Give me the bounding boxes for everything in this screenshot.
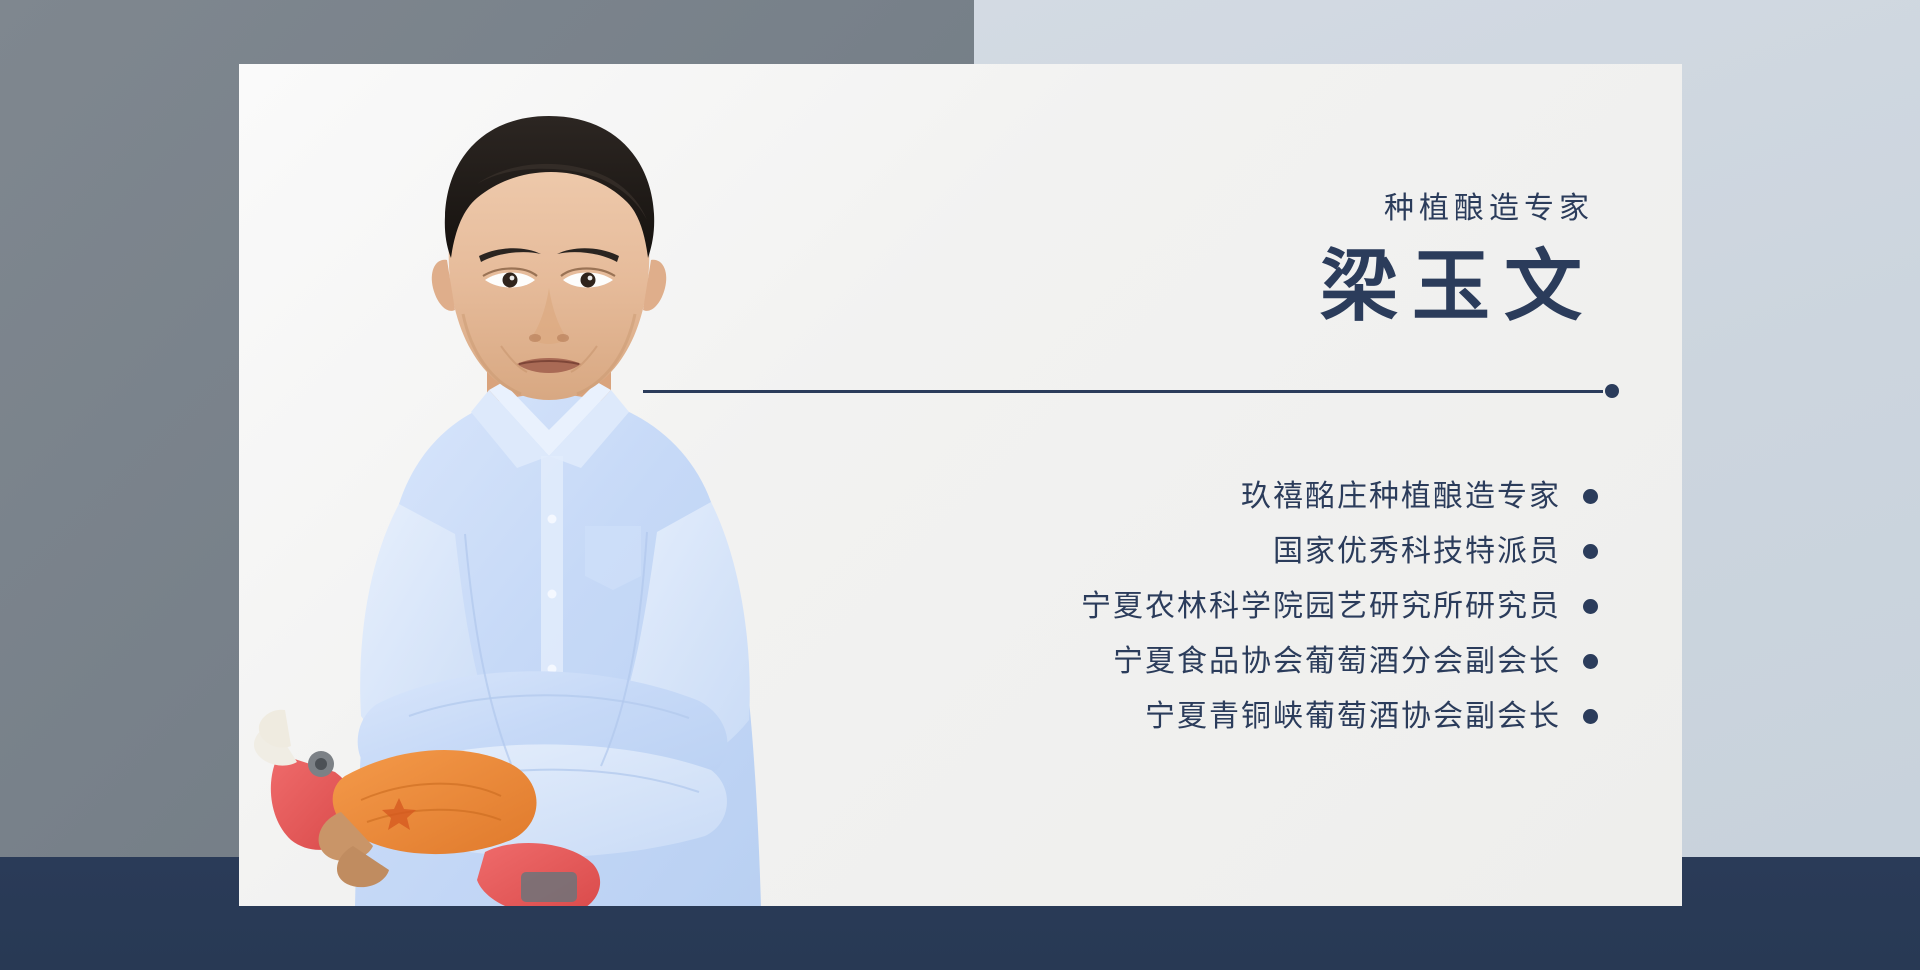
list-item: 玖禧酩庄种植酿造专家 [698, 469, 1598, 524]
credential-text: 宁夏青铜峡葡萄酒协会副会长 [1145, 702, 1561, 732]
profile-card: 种植酿造专家 梁玉文 玖禧酩庄种植酿造专家 国家优秀科技特派员 宁夏农林科学院园… [239, 64, 1682, 906]
list-item: 宁夏农林科学院园艺研究所研究员 [698, 579, 1598, 634]
credential-text: 玖禧酩庄种植酿造专家 [1241, 482, 1561, 512]
role-label: 种植酿造专家 [858, 194, 1598, 224]
divider-end-dot-icon [1605, 384, 1619, 398]
credential-text: 国家优秀科技特派员 [1273, 537, 1561, 567]
profile-heading: 种植酿造专家 梁玉文 [858, 194, 1598, 328]
divider-line [643, 390, 1603, 393]
credentials-list: 玖禧酩庄种植酿造专家 国家优秀科技特派员 宁夏农林科学院园艺研究所研究员 宁夏食… [698, 469, 1598, 744]
credential-text: 宁夏食品协会葡萄酒分会副会长 [1113, 647, 1561, 677]
list-item: 宁夏青铜峡葡萄酒协会副会长 [698, 689, 1598, 744]
list-item: 宁夏食品协会葡萄酒分会副会长 [698, 634, 1598, 689]
credential-text: 宁夏农林科学院园艺研究所研究员 [1081, 592, 1561, 622]
bullet-dot-icon [1583, 489, 1598, 504]
bullet-dot-icon [1583, 654, 1598, 669]
bullet-dot-icon [1583, 544, 1598, 559]
bullet-dot-icon [1583, 709, 1598, 724]
divider [643, 384, 1619, 398]
poster-canvas: 种植酿造专家 梁玉文 玖禧酩庄种植酿造专家 国家优秀科技特派员 宁夏农林科学院园… [0, 0, 1920, 970]
list-item: 国家优秀科技特派员 [698, 524, 1598, 579]
person-name: 梁玉文 [858, 246, 1598, 328]
bullet-dot-icon [1583, 599, 1598, 614]
